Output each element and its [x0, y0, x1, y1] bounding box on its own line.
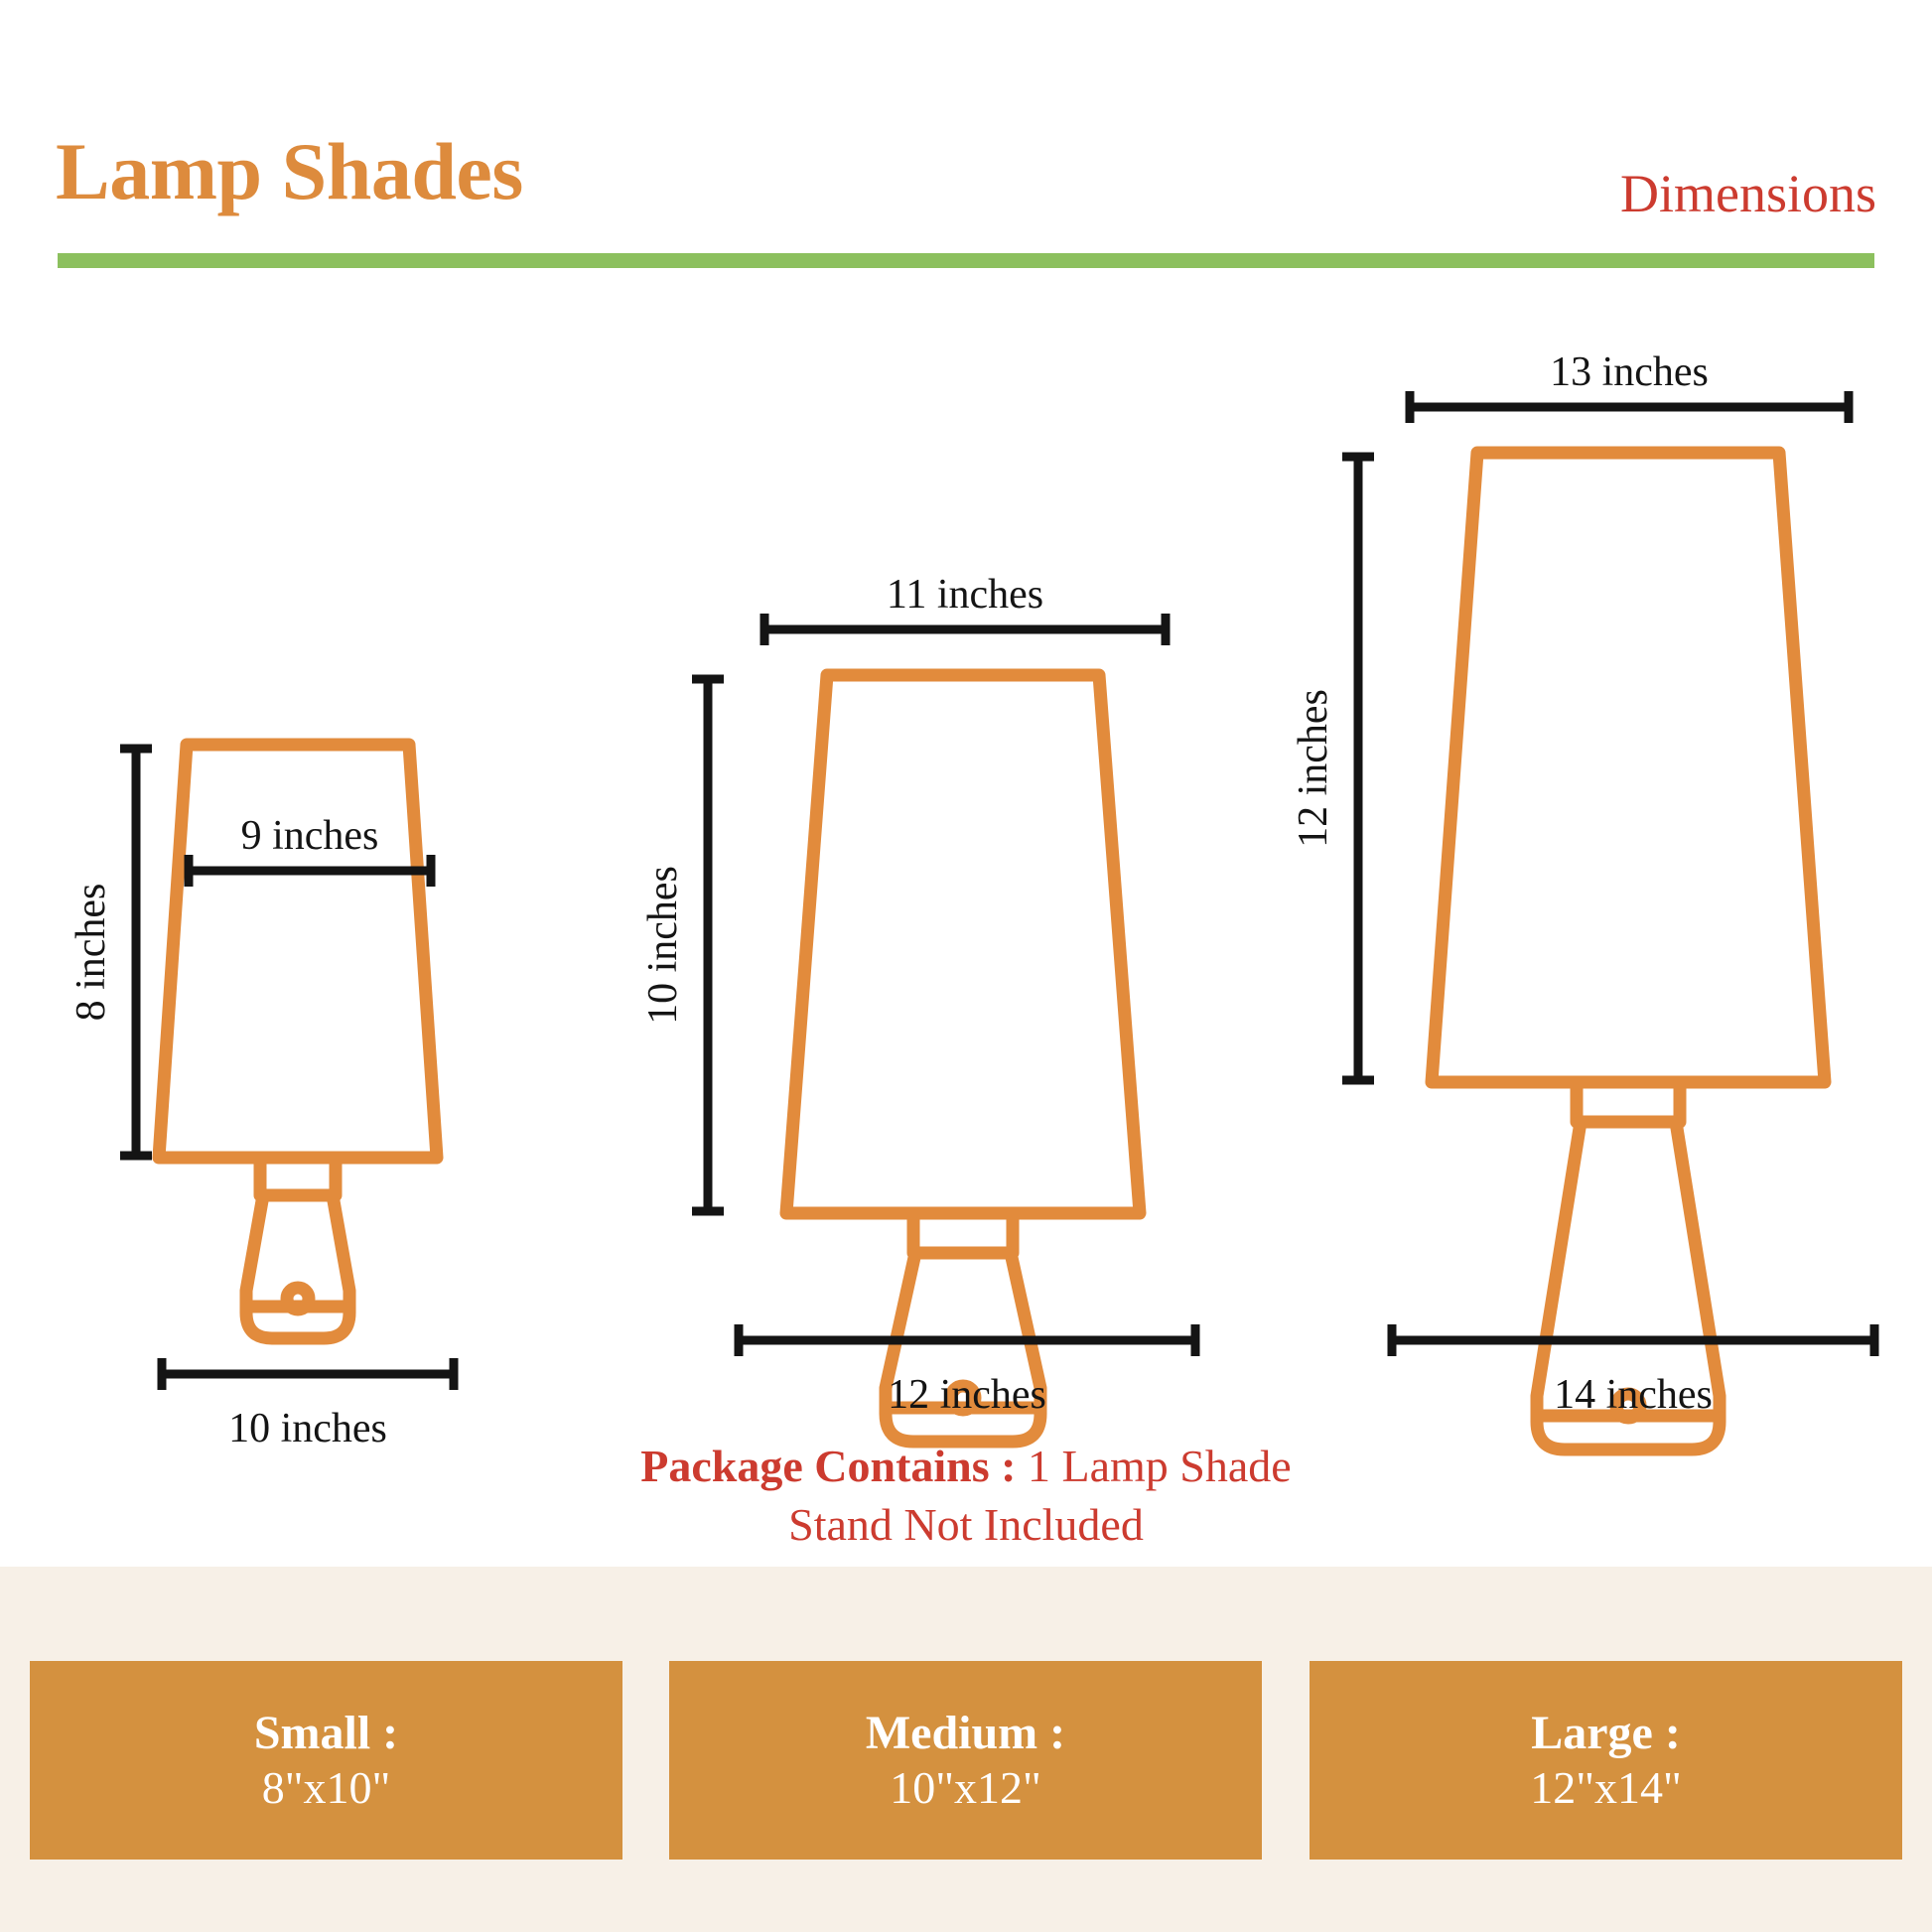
label-medium-shade-width: 11 inches	[887, 572, 1043, 618]
package-contains-value: 1 Lamp Shade	[1028, 1441, 1292, 1491]
label-large-shade-height: 12 inches	[1291, 689, 1336, 848]
lamp-small	[159, 745, 437, 1338]
dimension-medium-base-width	[737, 1324, 1197, 1356]
header-divider-rule	[58, 253, 1874, 268]
dimension-small-shade-width	[187, 855, 433, 887]
stand-not-included-note: Stand Not Included	[0, 1496, 1932, 1555]
dimension-lines	[120, 391, 1876, 1390]
label-large-shade-width: 13 inches	[1550, 349, 1709, 395]
dimension-large-base-width	[1390, 1324, 1876, 1356]
package-contains-note: Package Contains : 1 Lamp Shade Stand No…	[0, 1438, 1932, 1555]
size-box-medium-dims: 10"x12"	[890, 1761, 1041, 1815]
dimension-large-shade-height	[1342, 455, 1374, 1082]
size-box-small-name: Small :	[254, 1706, 398, 1762]
dimension-small-shade-height	[120, 747, 152, 1158]
label-small-shade-height: 8 inches	[69, 884, 114, 1022]
package-contains-label: Package Contains :	[640, 1441, 1016, 1491]
size-box-small[interactable]: Small : 8"x10"	[30, 1661, 622, 1860]
header-subtitle: Dimensions	[1620, 167, 1876, 220]
label-large-base-width: 14 inches	[1554, 1372, 1713, 1418]
size-box-large[interactable]: Large : 12"x14"	[1310, 1661, 1902, 1860]
size-box-small-dims: 8"x10"	[262, 1761, 391, 1815]
dimension-medium-shade-height	[692, 677, 724, 1213]
label-medium-base-width: 12 inches	[888, 1372, 1046, 1418]
size-box-large-name: Large :	[1531, 1706, 1681, 1762]
lamp-large	[1432, 453, 1825, 1449]
package-contains-line: Package Contains : 1 Lamp Shade	[0, 1438, 1932, 1496]
label-medium-shade-height: 10 inches	[640, 866, 686, 1025]
dimension-small-base-width	[160, 1358, 456, 1390]
size-box-medium-name: Medium :	[866, 1706, 1065, 1762]
size-box-medium[interactable]: Medium : 10"x12"	[669, 1661, 1262, 1860]
size-box-large-dims: 12"x14"	[1530, 1761, 1682, 1815]
infographic-page: Lamp Shades Dimensions	[0, 0, 1932, 1932]
label-small-shade-width: 9 inches	[241, 813, 379, 859]
page-title: Lamp Shades	[56, 131, 523, 212]
lamp-medium	[786, 675, 1140, 1442]
dimension-large-shade-width	[1408, 391, 1851, 423]
dimension-medium-shade-width	[762, 614, 1168, 645]
